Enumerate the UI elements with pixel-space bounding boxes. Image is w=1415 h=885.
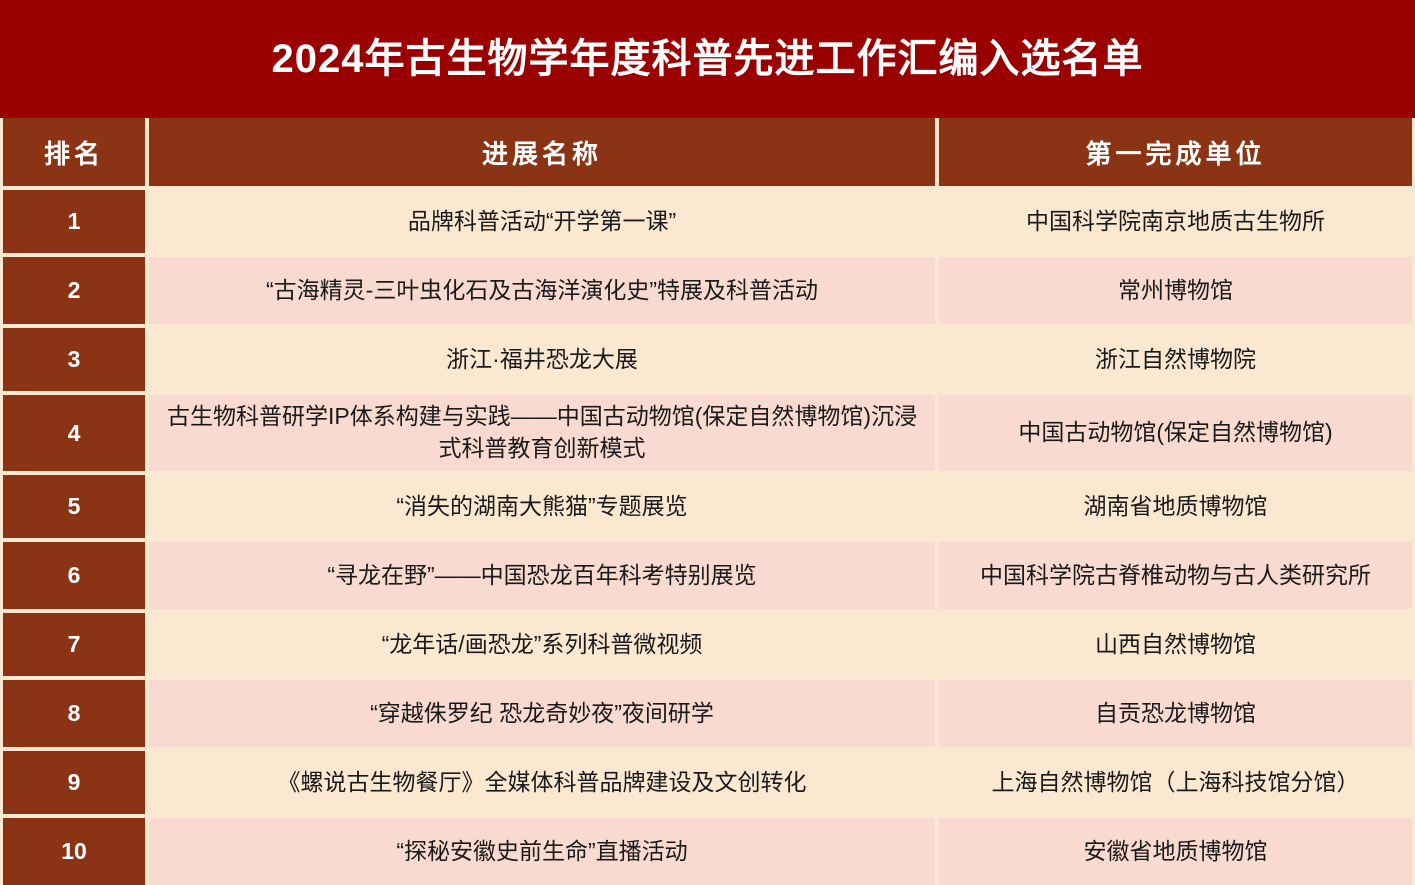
row-unit: 安徽省地质博物馆 (939, 818, 1412, 885)
column-header-name: 进展名称 (149, 118, 935, 186)
column-header-rank: 排名 (3, 118, 145, 186)
row-unit: 中国古动物馆(保定自然博物馆) (939, 395, 1412, 471)
row-name: 《螺说古生物餐厅》全媒体科普品牌建设及文创转化 (149, 751, 935, 814)
row-rank: 10 (3, 818, 145, 885)
row-unit: 浙江自然博物院 (939, 328, 1412, 391)
row-name: “龙年话/画恐龙”系列科普微视频 (149, 613, 935, 676)
row-rank: 5 (3, 475, 145, 538)
row-name: “古海精灵-三叶虫化石及古海洋演化史”特展及科普活动 (149, 257, 935, 324)
table-row: 1 品牌科普活动“开学第一课” 中国科学院南京地质古生物所 (3, 190, 1412, 253)
table-row: 3 浙江·福井恐龙大展 浙江自然博物院 (3, 328, 1412, 391)
table-header-row: 排名 进展名称 第一完成单位 (3, 118, 1412, 186)
row-name: “穿越侏罗纪 恐龙奇妙夜”夜间研学 (149, 680, 935, 747)
poster-page: 2024年古生物学年度科普先进工作汇编入选名单 排名 进展名称 第一完成单位 1… (0, 0, 1415, 808)
table-row: 2 “古海精灵-三叶虫化石及古海洋演化史”特展及科普活动 常州博物馆 (3, 257, 1412, 324)
row-name: 品牌科普活动“开学第一课” (149, 190, 935, 253)
column-header-unit: 第一完成单位 (939, 118, 1412, 186)
title-banner: 2024年古生物学年度科普先进工作汇编入选名单 (0, 0, 1415, 118)
row-unit: 自贡恐龙博物馆 (939, 680, 1412, 747)
row-unit: 山西自然博物馆 (939, 613, 1412, 676)
table-row: 4 古生物科普研学IP体系构建与实践——中国古动物馆(保定自然博物馆)沉浸式科普… (3, 395, 1412, 471)
table-row: 10 “探秘安徽史前生命”直播活动 安徽省地质博物馆 (3, 818, 1412, 885)
table-row: 5 “消失的湖南大熊猫”专题展览 湖南省地质博物馆 (3, 475, 1412, 538)
row-unit: 中国科学院古脊椎动物与古人类研究所 (939, 542, 1412, 609)
row-name: “探秘安徽史前生命”直播活动 (149, 818, 935, 885)
table-row: 6 “寻龙在野”——中国恐龙百年科考特别展览 中国科学院古脊椎动物与古人类研究所 (3, 542, 1412, 609)
row-name: 浙江·福井恐龙大展 (149, 328, 935, 391)
table-row: 8 “穿越侏罗纪 恐龙奇妙夜”夜间研学 自贡恐龙博物馆 (3, 680, 1412, 747)
ranking-table: 排名 进展名称 第一完成单位 1 品牌科普活动“开学第一课” 中国科学院南京地质… (0, 118, 1415, 885)
row-rank: 3 (3, 328, 145, 391)
page-title: 2024年古生物学年度科普先进工作汇编入选名单 (272, 37, 1144, 81)
row-rank: 8 (3, 680, 145, 747)
table-row: 9 《螺说古生物餐厅》全媒体科普品牌建设及文创转化 上海自然博物馆（上海科技馆分… (3, 751, 1412, 814)
row-name: “寻龙在野”——中国恐龙百年科考特别展览 (149, 542, 935, 609)
row-rank: 1 (3, 190, 145, 253)
row-unit: 上海自然博物馆（上海科技馆分馆） (939, 751, 1412, 814)
row-rank: 9 (3, 751, 145, 814)
row-unit: 常州博物馆 (939, 257, 1412, 324)
row-rank: 4 (3, 395, 145, 471)
row-name: “消失的湖南大熊猫”专题展览 (149, 475, 935, 538)
row-rank: 2 (3, 257, 145, 324)
row-unit: 中国科学院南京地质古生物所 (939, 190, 1412, 253)
row-unit: 湖南省地质博物馆 (939, 475, 1412, 538)
row-rank: 7 (3, 613, 145, 676)
row-rank: 6 (3, 542, 145, 609)
table-row: 7 “龙年话/画恐龙”系列科普微视频 山西自然博物馆 (3, 613, 1412, 676)
row-name: 古生物科普研学IP体系构建与实践——中国古动物馆(保定自然博物馆)沉浸式科普教育… (149, 395, 935, 471)
